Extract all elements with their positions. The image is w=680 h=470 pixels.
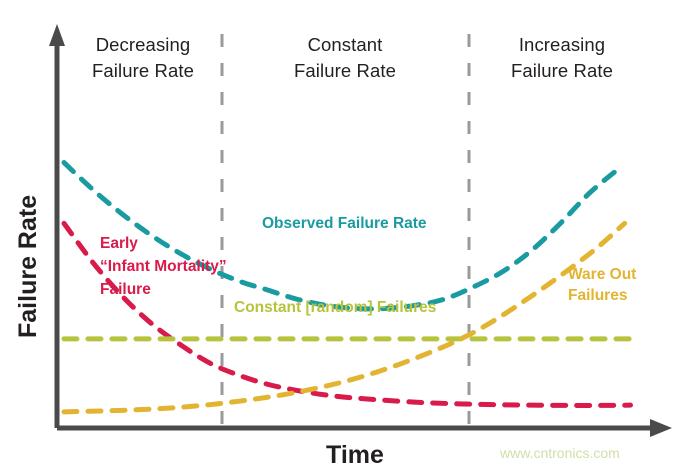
annotation-constant-random-failures: Constant [random] Failures xyxy=(234,299,436,316)
zone-label-decreasing-line1: Decreasing xyxy=(96,34,191,55)
y-axis-title: Failure Rate xyxy=(14,195,42,338)
annotation-early-failure-line3: Failure xyxy=(100,281,151,298)
bathtub-curve-figure: Decreasing Failure Rate Constant Failure… xyxy=(0,0,680,470)
annotation-ware-out-line1: Ware Out xyxy=(568,266,636,283)
zone-label-constant-line2: Failure Rate xyxy=(294,60,396,81)
x-axis-title: Time xyxy=(326,441,384,469)
annotation-early-failure-line2: “Infant Mortality” xyxy=(100,258,227,275)
annotation-early-failure-line1: Early xyxy=(100,235,138,252)
zone-label-constant-line1: Constant xyxy=(308,34,383,55)
zone-label-increasing-line2: Failure Rate xyxy=(511,60,613,81)
annotation-observed-failure-rate: Observed Failure Rate xyxy=(262,215,427,232)
annotation-ware-out-line2: Failures xyxy=(568,287,627,304)
chart-svg: Decreasing Failure Rate Constant Failure… xyxy=(0,0,680,470)
watermark-label: www.cntronics.com xyxy=(499,445,620,461)
zone-label-decreasing-line2: Failure Rate xyxy=(92,60,194,81)
zone-label-increasing-line1: Increasing xyxy=(519,34,605,55)
